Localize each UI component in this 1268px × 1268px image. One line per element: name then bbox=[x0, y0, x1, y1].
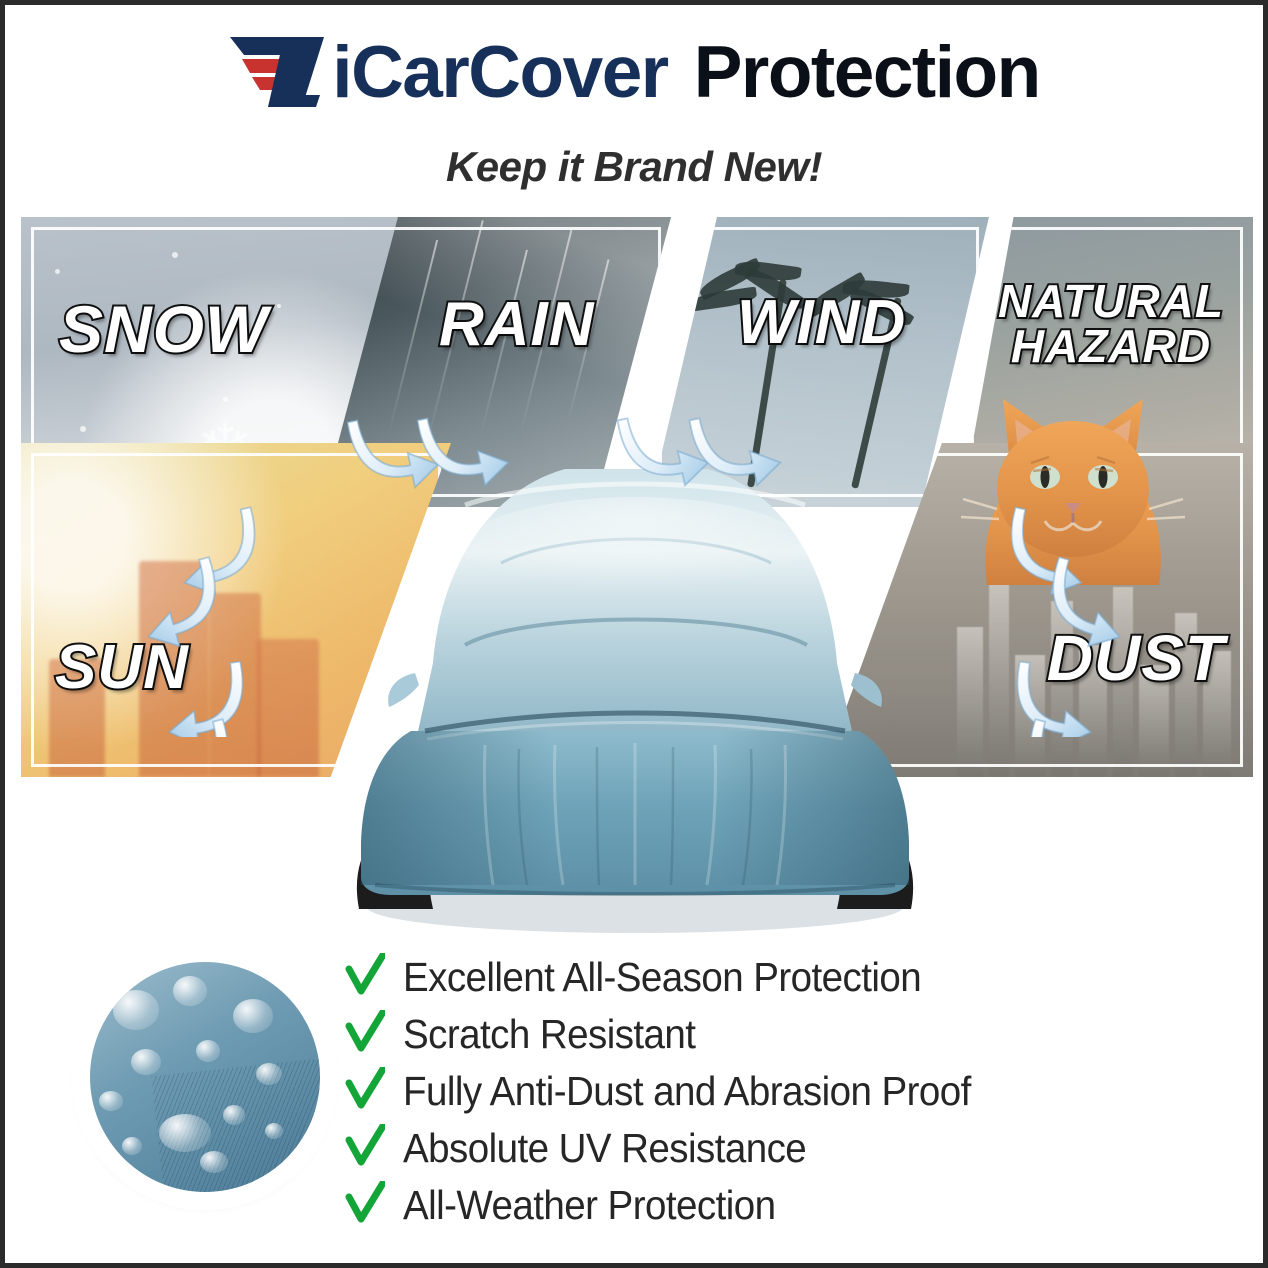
infographic-frame: iCarCover Protection Keep it Brand New! … bbox=[0, 0, 1268, 1268]
hazard-label-line1: NATURAL bbox=[975, 279, 1247, 324]
orange-cat-icon bbox=[957, 377, 1187, 593]
hazard-panel-label-natural-hazard: NATURAL HAZARD bbox=[975, 279, 1247, 369]
check-icon bbox=[345, 1067, 385, 1111]
feature-label: Excellent All-Season Protection bbox=[403, 957, 921, 998]
hazard-panel-label-dust: DUST bbox=[1047, 627, 1225, 690]
hazard-panel-label-snow: SNOW bbox=[59, 297, 268, 362]
feature-list: Excellent All-Season Protection Scratch … bbox=[345, 947, 1195, 1232]
tagline: Keep it Brand New! bbox=[5, 143, 1263, 191]
fabric-closeup-image bbox=[90, 962, 320, 1192]
hazard-panel-label-wind: WIND bbox=[737, 293, 906, 354]
wing-stripes-logo-icon bbox=[228, 33, 332, 111]
page-title: iCarCover Protection bbox=[5, 33, 1263, 111]
check-icon bbox=[345, 1010, 385, 1054]
car-with-cover-image bbox=[315, 445, 955, 945]
feature-item: Excellent All-Season Protection bbox=[345, 947, 1195, 1004]
brand-name: iCarCover bbox=[332, 36, 667, 109]
feature-label: Scratch Resistant bbox=[403, 1014, 695, 1055]
hazard-panel-label-sun: SUN bbox=[55, 638, 189, 699]
water-beading-fabric-inset bbox=[81, 953, 329, 1201]
features-section: Excellent All-Season Protection Scratch … bbox=[5, 935, 1263, 1265]
feature-item: Absolute UV Resistance bbox=[345, 1118, 1195, 1175]
feature-item: Scratch Resistant bbox=[345, 1004, 1195, 1061]
check-icon bbox=[345, 1181, 385, 1225]
feature-item: Fully Anti-Dust and Abrasion Proof bbox=[345, 1061, 1195, 1118]
feature-label: All-Weather Protection bbox=[403, 1185, 775, 1226]
check-icon bbox=[345, 953, 385, 997]
hazard-panel-label-rain: RAIN bbox=[439, 295, 595, 356]
feature-label: Fully Anti-Dust and Abrasion Proof bbox=[403, 1071, 971, 1112]
header: iCarCover Protection Keep it Brand New! bbox=[5, 5, 1263, 210]
brand-subtitle: Protection bbox=[694, 36, 1040, 109]
hazard-label-line2: HAZARD bbox=[975, 324, 1247, 369]
feature-label: Absolute UV Resistance bbox=[403, 1128, 806, 1169]
check-icon bbox=[345, 1124, 385, 1168]
feature-item: All-Weather Protection bbox=[345, 1175, 1195, 1232]
